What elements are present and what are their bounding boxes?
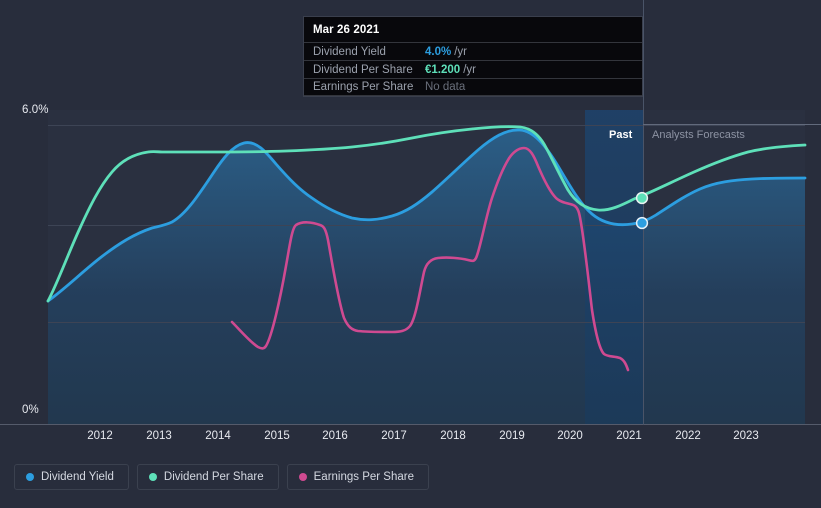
x-axis-tick-2017: 2017 xyxy=(364,430,424,442)
chart-tooltip: Mar 26 2021 Dividend Yield 4.0% /yr Divi… xyxy=(303,16,643,97)
dividend-chart-widget: 6.0% 0% 2012 2013 2014 2015 2016 2017 20… xyxy=(0,0,821,508)
tooltip-unit-dividend-yield: /yr xyxy=(454,46,467,58)
legend-item-earnings-per-share[interactable]: Earnings Per Share xyxy=(287,464,429,490)
tooltip-row-earnings-per-share: Earnings Per Share No data xyxy=(304,78,642,96)
hover-highlight-band xyxy=(585,110,643,425)
y-axis-label-max: 6.0% xyxy=(22,104,49,116)
tooltip-label-dividend-yield: Dividend Yield xyxy=(313,46,425,58)
forecast-band-label: Analysts Forecasts xyxy=(652,129,745,141)
tooltip-value-dividend-per-share: €1.200 xyxy=(425,64,460,76)
tooltip-date: Mar 26 2021 xyxy=(304,17,642,42)
legend-label-dividend-per-share: Dividend Per Share xyxy=(164,471,264,483)
tooltip-label-dividend-per-share: Dividend Per Share xyxy=(313,64,425,76)
legend-dot-icon-dividend-yield xyxy=(26,473,34,481)
legend-dot-icon-dividend-per-share xyxy=(149,473,157,481)
x-axis-tick-2012: 2012 xyxy=(70,430,130,442)
x-axis-tick-2019: 2019 xyxy=(482,430,542,442)
tooltip-value-earnings-per-share: No data xyxy=(425,81,465,93)
past-band-label: Past xyxy=(609,129,632,141)
y-axis-label-zero: 0% xyxy=(22,404,39,416)
x-axis-tick-2023: 2023 xyxy=(716,430,776,442)
chart-legend: Dividend Yield Dividend Per Share Earnin… xyxy=(14,464,429,490)
tooltip-unit-dividend-per-share: /yr xyxy=(463,64,476,76)
tooltip-row-dividend-yield: Dividend Yield 4.0% /yr xyxy=(304,42,642,60)
x-axis-tick-2014: 2014 xyxy=(188,430,248,442)
x-axis-tick-2021: 2021 xyxy=(599,430,659,442)
legend-label-dividend-yield: Dividend Yield xyxy=(41,471,114,483)
x-axis-tick-2020: 2020 xyxy=(540,430,600,442)
legend-item-dividend-yield[interactable]: Dividend Yield xyxy=(14,464,129,490)
x-axis-tick-2018: 2018 xyxy=(423,430,483,442)
legend-item-dividend-per-share[interactable]: Dividend Per Share xyxy=(137,464,279,490)
x-axis-tick-2015: 2015 xyxy=(247,430,307,442)
legend-label-earnings-per-share: Earnings Per Share xyxy=(314,471,414,483)
x-axis-tick-2022: 2022 xyxy=(658,430,718,442)
tooltip-row-dividend-per-share: Dividend Per Share €1.200 /yr xyxy=(304,60,642,78)
hover-marker-dividend-per-share xyxy=(637,193,648,204)
x-axis-tick-2013: 2013 xyxy=(129,430,189,442)
legend-dot-icon-earnings-per-share xyxy=(299,473,307,481)
hover-marker-dividend-yield xyxy=(637,218,648,229)
x-axis-tick-2016: 2016 xyxy=(305,430,365,442)
tooltip-label-earnings-per-share: Earnings Per Share xyxy=(313,81,425,93)
tooltip-value-dividend-yield: 4.0% xyxy=(425,46,451,58)
